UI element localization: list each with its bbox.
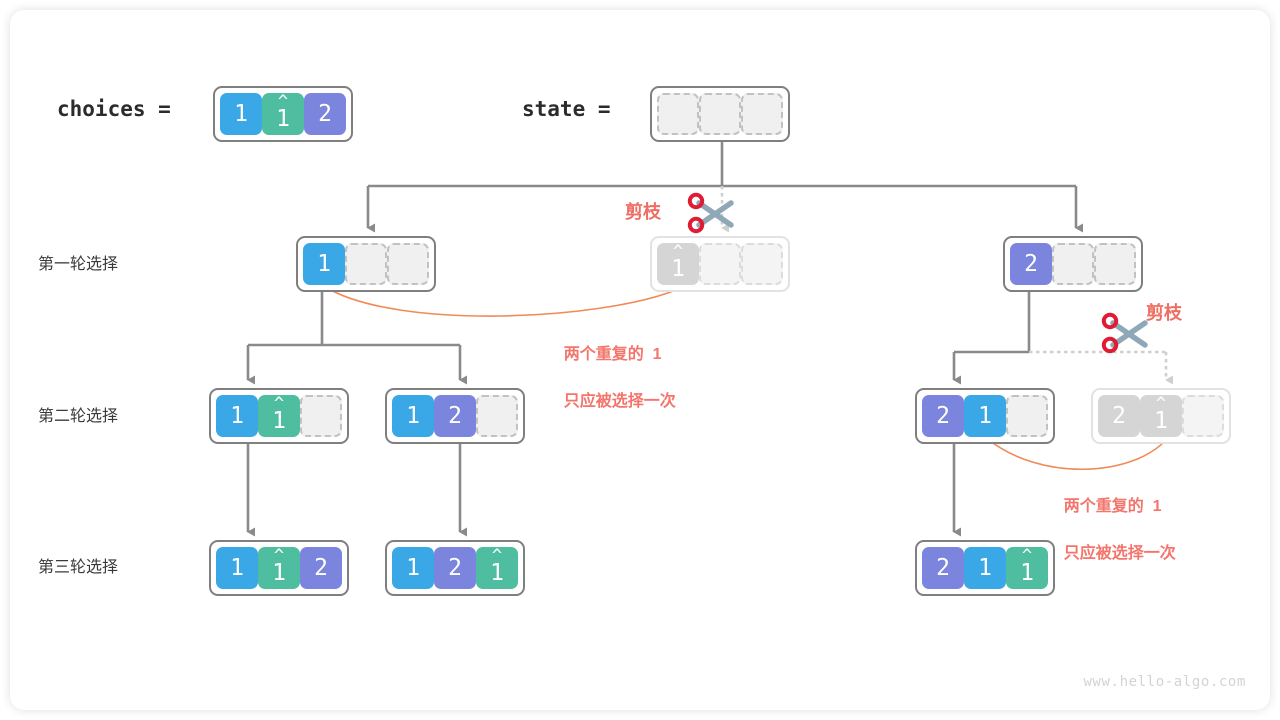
array-cell-value: 1 [406,403,420,429]
row-label-round-3: 第三轮选择 [38,553,118,577]
diagram-canvas: choices = state = 第一轮选择 第二轮选择 第三轮选择 1^12… [0,0,1280,720]
array-cell-value: 2 [448,555,462,581]
array-cell-value: 1 [978,555,992,581]
array-cell: 1 [220,93,262,135]
node-round1-option-2-pruned: ^1 [650,236,790,292]
state-label: state = [522,97,611,121]
array-cell: 2 [922,547,964,589]
array-cell: ^1 [657,243,699,285]
hat-marker-icon: ^ [262,94,304,111]
node-round3-option-2: 12^1 [385,540,525,596]
array-cell [300,395,342,437]
array-cell: 2 [1010,243,1052,285]
prune-label-top: 剪枝 [625,198,661,224]
array-cell-value: 1 [978,403,992,429]
choices-array: 1^12 [213,86,353,142]
array-cell: 1 [216,395,258,437]
array-cell-value: 2 [318,101,332,127]
array-cell-value: 1 [406,555,420,581]
array-cell: ^1 [1006,547,1048,589]
array-cell: 1 [303,243,345,285]
array-cell-value: 2 [314,555,328,581]
array-cell: 2 [922,395,964,437]
array-cell [476,395,518,437]
hat-marker-icon: ^ [258,548,300,565]
scissors-icon-right [1100,312,1158,356]
array-cell-value: 1 [317,251,331,277]
state-array [650,86,790,142]
hat-marker-icon: ^ [476,548,518,565]
array-cell: 1 [964,547,1006,589]
array-cell: ^1 [476,547,518,589]
hat-marker-icon: ^ [1006,548,1048,565]
array-cell: ^1 [258,547,300,589]
array-cell-value: 1 [230,555,244,581]
node-round3-option-3: 21^1 [915,540,1055,596]
array-cell [345,243,387,285]
node-round2-option-3: 21 [915,388,1055,444]
hat-marker-icon: ^ [258,396,300,413]
node-round3-option-1: 1^12 [209,540,349,596]
hat-marker-icon: ^ [657,244,699,261]
array-cell-value: 2 [1024,251,1038,277]
node-round2-option-1: 1^1 [209,388,349,444]
array-cell [387,243,429,285]
scissors-icon-top [686,192,744,236]
note-duplicate-top: 两个重复的 1 只应被选择一次 [546,320,676,436]
array-cell [741,93,783,135]
array-cell: 1 [392,395,434,437]
array-cell [699,243,741,285]
array-cell [1006,395,1048,437]
hat-marker-icon: ^ [1140,396,1182,413]
note-duplicate-right-line1: 两个重复的 1 [1064,498,1162,515]
array-cell: ^1 [258,395,300,437]
array-cell: 1 [216,547,258,589]
array-cell-value: 2 [448,403,462,429]
array-cell: 2 [300,547,342,589]
node-round2-option-4-pruned: 2^1 [1091,388,1231,444]
watermark: www.hello-algo.com [1083,674,1246,690]
array-cell: ^1 [1140,395,1182,437]
note-duplicate-right: 两个重复的 1 只应被选择一次 [1046,472,1176,588]
node-round1-option-1: 1 [296,236,436,292]
note-duplicate-top-line1: 两个重复的 1 [564,346,662,363]
array-cell [1182,395,1224,437]
node-round1-option-3: 2 [1003,236,1143,292]
choices-label: choices = [57,97,171,121]
array-cell [741,243,783,285]
array-cell: 2 [1098,395,1140,437]
array-cell: 1 [392,547,434,589]
note-duplicate-top-line2: 只应被选择一次 [564,393,676,410]
array-cell [657,93,699,135]
node-round2-option-2: 12 [385,388,525,444]
array-cell-value: 2 [936,555,950,581]
array-cell: 2 [434,395,476,437]
array-cell-value: 2 [936,403,950,429]
array-cell: 1 [964,395,1006,437]
array-cell-value: 1 [230,403,244,429]
array-cell [1094,243,1136,285]
array-cell [1052,243,1094,285]
row-label-round-2: 第二轮选择 [38,402,118,426]
array-cell: ^1 [262,93,304,135]
array-cell-value: 1 [234,101,248,127]
array-cell: 2 [434,547,476,589]
row-label-round-1: 第一轮选择 [38,250,118,274]
array-cell: 2 [304,93,346,135]
array-cell-value: 2 [1112,403,1126,429]
array-cell [699,93,741,135]
note-duplicate-right-line2: 只应被选择一次 [1064,545,1176,562]
